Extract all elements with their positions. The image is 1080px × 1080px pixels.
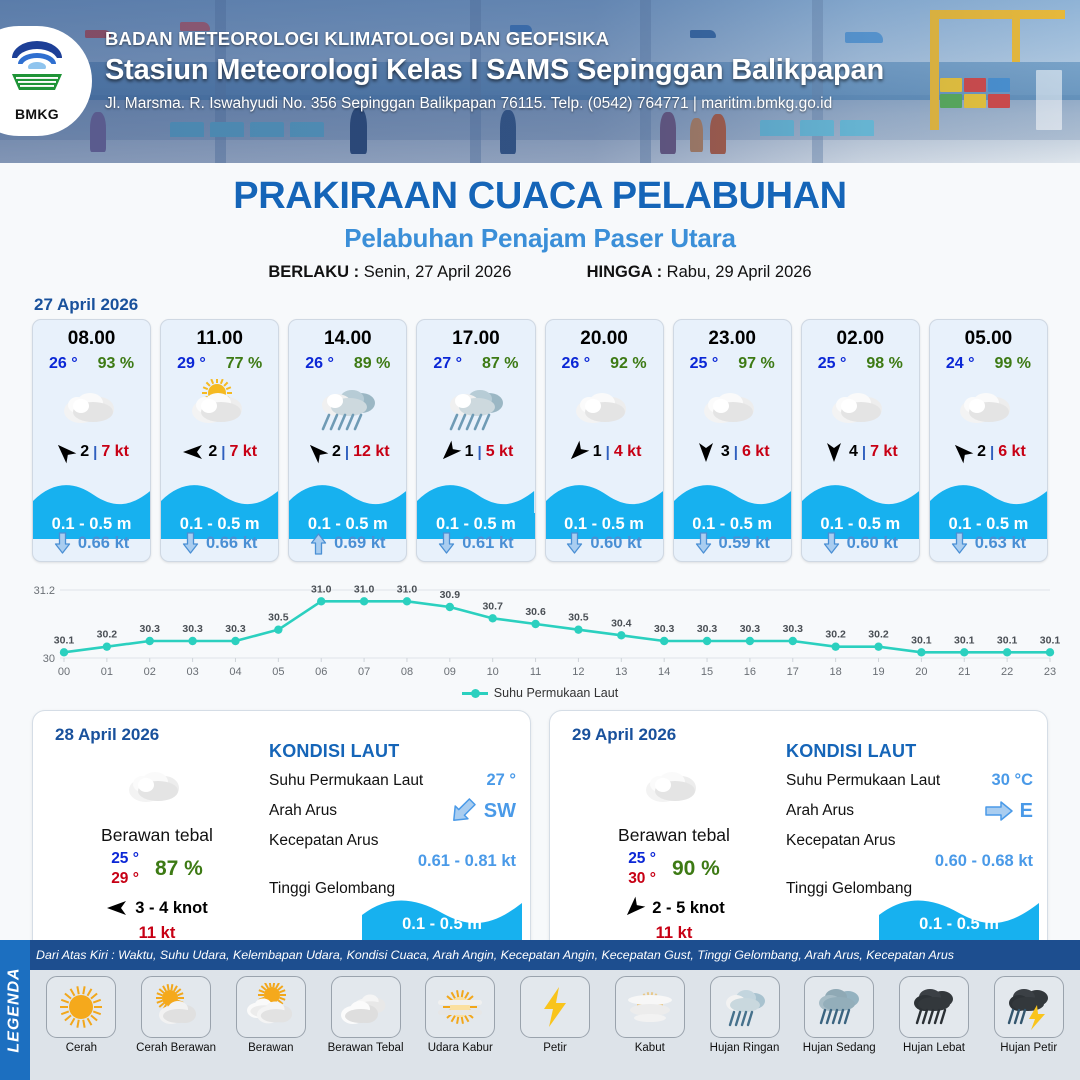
agency-name: BADAN METEOROLOGI KLIMATOLOGI DAN GEOFIS…	[105, 28, 1065, 50]
svg-text:21: 21	[958, 666, 970, 678]
legend-item-label: Kabut	[602, 1042, 697, 1054]
wind-direction-icon	[50, 436, 81, 467]
thunderstorm-icon	[994, 976, 1064, 1038]
card-temperature: 27 °	[433, 355, 462, 373]
hourly-card: 17.00 27 ° 87 % 1 | 5 kt 0.1 - 0.5 m	[416, 319, 535, 562]
daily-temp-min: 25 °	[111, 850, 139, 868]
card-separator: |	[345, 444, 349, 461]
berlaku-label: BERLAKU :	[268, 263, 359, 281]
validity-row: BERLAKU : Senin, 27 April 2026 HINGGA : …	[0, 263, 1080, 282]
card-current-speed: 0.63 kt	[975, 534, 1026, 553]
card-separator: |	[606, 444, 610, 461]
legend-item: Berawan	[223, 976, 318, 1054]
card-current: 0.59 kt	[674, 532, 791, 555]
hourly-card: 23.00 25 ° 97 % 3 | 6 kt 0.1 - 0.5 m	[673, 319, 792, 562]
fog-icon	[615, 976, 685, 1038]
card-temperature: 26 °	[305, 355, 334, 373]
card-current-speed: 0.59 kt	[719, 534, 770, 553]
cloud-sun-icon	[236, 976, 306, 1038]
card-values: 27 ° 87 %	[417, 355, 534, 373]
daily-wind: 3 - 4 knot	[47, 897, 267, 919]
hourly-card: 14.00 26 ° 89 % 2 | 12 kt 0.1 - 0.5 m	[288, 319, 407, 562]
card-wind: 2 | 7 kt	[33, 441, 150, 463]
legend-item-label: Hujan Sedang	[792, 1042, 887, 1054]
card-current: 0.60 kt	[546, 532, 663, 555]
current-speed-value: 0.61 - 0.81 kt	[269, 852, 516, 871]
card-current: 0.63 kt	[930, 532, 1047, 555]
current-speed-row: Kecepatan Arus	[786, 832, 1033, 850]
svg-text:08: 08	[401, 666, 413, 678]
svg-text:13: 13	[615, 666, 627, 678]
current-direction-row: Arah Arus E	[786, 799, 1033, 823]
card-wave-zone: 0.1 - 0.5 m 0.66 kt	[33, 479, 150, 561]
station-name: Stasiun Meteorologi Kelas I SAMS Sepingg…	[105, 54, 1065, 87]
hourly-date-label: 27 April 2026	[34, 295, 1080, 315]
legend-item-label: Petir	[508, 1042, 603, 1054]
card-values: 29 ° 77 %	[161, 355, 278, 373]
moderate-rain-icon	[804, 976, 874, 1038]
card-gust: 12 kt	[353, 443, 389, 461]
svg-text:30.1: 30.1	[54, 634, 75, 646]
current-direction-icon	[695, 532, 712, 555]
sea-conditions-title: KONDISI LAUT	[786, 741, 1033, 762]
svg-text:30.2: 30.2	[97, 629, 118, 641]
card-time: 23.00	[674, 328, 791, 350]
lightning-icon	[520, 976, 590, 1038]
card-weather-icon	[674, 377, 791, 433]
card-wind: 2 | 6 kt	[930, 441, 1047, 463]
sst-row: Suhu Permukaan Laut 27 °	[269, 771, 516, 790]
card-humidity: 92 %	[610, 355, 646, 373]
sst-label: Suhu Permukaan Laut	[269, 772, 423, 790]
svg-text:31.0: 31.0	[397, 583, 418, 595]
hourly-card: 20.00 26 ° 92 % 1 | 4 kt 0.1 - 0.5 m	[545, 319, 664, 562]
card-weather-icon	[161, 377, 278, 433]
svg-text:00: 00	[58, 666, 70, 678]
card-time: 17.00	[417, 328, 534, 350]
daily-date: 28 April 2026	[55, 725, 159, 745]
card-wind-speed: 2	[332, 443, 341, 461]
header-text-block: BADAN METEOROLOGI KLIMATOLOGI DAN GEOFIS…	[105, 28, 1065, 113]
card-temperature: 26 °	[49, 355, 78, 373]
card-wind: 3 | 6 kt	[674, 441, 791, 463]
legend-item: Petir	[508, 976, 603, 1054]
wind-direction-icon	[434, 436, 465, 467]
card-wave-zone: 0.1 - 0.5 m 0.60 kt	[546, 479, 663, 561]
svg-text:30.3: 30.3	[783, 623, 804, 635]
svg-text:31.0: 31.0	[311, 583, 332, 595]
current-direction-icon	[566, 532, 583, 555]
daily-sea-conditions: KONDISI LAUT Suhu Permukaan Laut 30 °C A…	[786, 741, 1033, 898]
card-wave-zone: 0.1 - 0.5 m 0.59 kt	[674, 479, 791, 561]
current-direction-value: E	[1020, 800, 1033, 823]
sea-conditions-title: KONDISI LAUT	[269, 741, 516, 762]
card-current-speed: 0.60 kt	[590, 534, 641, 553]
chart-legend: Suhu Permukaan Laut	[0, 686, 1080, 700]
card-current: 0.66 kt	[33, 532, 150, 555]
legend-item-label: Cerah Berawan	[129, 1042, 224, 1054]
svg-text:17: 17	[787, 666, 799, 678]
wind-direction-icon	[562, 436, 593, 467]
sst-chart: 31.23030.10030.20130.30230.30330.30430.5…	[20, 576, 1060, 684]
svg-text:30.5: 30.5	[568, 612, 589, 624]
legend-item: Kabut	[602, 976, 697, 1054]
svg-text:30.3: 30.3	[140, 623, 161, 635]
current-direction-icon	[438, 532, 455, 555]
current-direction-icon	[951, 532, 968, 555]
svg-text:09: 09	[444, 666, 456, 678]
svg-text:30.1: 30.1	[997, 634, 1018, 646]
card-weather-icon	[930, 377, 1047, 433]
legend-item-label: Udara Kabur	[413, 1042, 508, 1054]
svg-text:23: 23	[1044, 666, 1056, 678]
svg-text:14: 14	[658, 666, 670, 678]
svg-text:31.0: 31.0	[354, 583, 375, 595]
card-wind-speed: 2	[977, 443, 986, 461]
svg-text:30.4: 30.4	[611, 617, 632, 629]
card-wave-zone: 0.1 - 0.5 m 0.69 kt	[289, 479, 406, 561]
card-gust: 7 kt	[870, 443, 898, 461]
legend-item: Hujan Petir	[981, 976, 1076, 1054]
legend-item: Cerah Berawan	[129, 976, 224, 1054]
card-current: 0.61 kt	[417, 532, 534, 555]
legend-item: Hujan Lebat	[887, 976, 982, 1054]
svg-text:16: 16	[744, 666, 756, 678]
legend-item-label: Berawan	[223, 1042, 318, 1054]
card-current-speed: 0.69 kt	[334, 534, 385, 553]
title-section: PRAKIRAAN CUACA PELABUHAN Pelabuhan Pena…	[0, 163, 1080, 282]
hourly-card: 02.00 25 ° 98 % 4 | 7 kt 0.1 - 0.5 m	[801, 319, 920, 562]
card-current: 0.69 kt	[289, 532, 406, 555]
card-time: 14.00	[289, 328, 406, 350]
daily-temp-min: 25 °	[628, 850, 656, 868]
svg-text:15: 15	[701, 666, 713, 678]
card-current: 0.60 kt	[802, 532, 919, 555]
wind-direction-icon	[695, 441, 717, 463]
daily-wind-speed: 3 - 4 knot	[135, 899, 207, 918]
hourly-card: 05.00 24 ° 99 % 2 | 6 kt 0.1 - 0.5 m	[929, 319, 1048, 562]
card-humidity: 77 %	[226, 355, 262, 373]
card-temperature: 29 °	[177, 355, 206, 373]
card-gust: 5 kt	[486, 443, 514, 461]
hourly-card: 11.00 29 ° 77 % 2 | 7 kt 0.1 - 0.5 m	[160, 319, 279, 562]
bmkg-emblem-icon	[6, 40, 68, 100]
legend-item: Hujan Sedang	[792, 976, 887, 1054]
card-humidity: 98 %	[866, 355, 902, 373]
daily-wind-speed: 2 - 5 knot	[652, 899, 724, 918]
card-weather-icon	[802, 377, 919, 433]
svg-text:30.6: 30.6	[525, 606, 546, 618]
hourly-card: 08.00 26 ° 93 % 2 | 7 kt 0.1 - 0.5 m	[32, 319, 151, 562]
svg-text:05: 05	[272, 666, 284, 678]
sst-value: 27 °	[486, 771, 516, 790]
card-separator: |	[990, 444, 994, 461]
svg-text:30.1: 30.1	[911, 634, 932, 646]
svg-text:20: 20	[915, 666, 927, 678]
daily-temps: 25 ° 30 ° 90 %	[564, 850, 784, 888]
light-rain-icon	[710, 976, 780, 1038]
svg-text:18: 18	[830, 666, 842, 678]
legend-items: Cerah Cerah Berawan Berawan	[30, 970, 1080, 1080]
arrow-e	[984, 799, 1014, 823]
current-speed-label: Kecepatan Arus	[786, 832, 895, 850]
card-current-speed: 0.61 kt	[462, 534, 513, 553]
svg-text:30.5: 30.5	[268, 612, 289, 624]
heavy-rain-icon	[899, 976, 969, 1038]
card-separator: |	[478, 444, 482, 461]
daily-wind: 2 - 5 knot	[564, 897, 784, 919]
svg-text:10: 10	[487, 666, 499, 678]
arrow-sw	[444, 792, 482, 830]
current-speed-row: Kecepatan Arus	[269, 832, 516, 850]
card-values: 26 ° 92 %	[546, 355, 663, 373]
haze-icon	[425, 976, 495, 1038]
card-time: 02.00	[802, 328, 919, 350]
card-current-speed: 0.66 kt	[78, 534, 129, 553]
card-humidity: 99 %	[995, 355, 1031, 373]
legend-item: Cerah	[34, 976, 129, 1054]
card-wind: 1 | 4 kt	[546, 441, 663, 463]
daily-wave-graphic: 0.1 - 0.5 m	[879, 889, 1039, 945]
sun-icon	[46, 976, 116, 1038]
sst-label: Suhu Permukaan Laut	[786, 772, 940, 790]
clouds-icon	[331, 976, 401, 1038]
station-address: Jl. Marsma. R. Iswahyudi No. 356 Sepingg…	[105, 95, 1065, 113]
svg-text:31.2: 31.2	[34, 585, 55, 597]
legend-side-tab: LEGENDA	[0, 940, 30, 1080]
card-gust: 6 kt	[998, 443, 1026, 461]
daily-humidity: 90 %	[672, 857, 720, 881]
card-time: 20.00	[546, 328, 663, 350]
chart-legend-label: Suhu Permukaan Laut	[494, 686, 618, 700]
card-wave-zone: 0.1 - 0.5 m 0.66 kt	[161, 479, 278, 561]
svg-text:30.3: 30.3	[654, 623, 675, 635]
wind-direction-icon	[301, 436, 332, 467]
bmkg-logo-text: BMKG	[2, 106, 72, 122]
daily-wave-graphic: 0.1 - 0.5 m	[362, 889, 522, 945]
card-current-speed: 0.60 kt	[847, 534, 898, 553]
current-direction-row: Arah Arus SW	[269, 799, 516, 823]
current-direction-icon	[54, 532, 71, 555]
current-direction-label: Arah Arus	[786, 802, 854, 820]
current-speed-value: 0.60 - 0.68 kt	[786, 852, 1033, 871]
sun-cloud-icon	[141, 976, 211, 1038]
current-direction-icon	[823, 532, 840, 555]
svg-text:04: 04	[229, 666, 241, 678]
legend-item-label: Hujan Ringan	[697, 1042, 792, 1054]
card-values: 25 ° 98 %	[802, 355, 919, 373]
svg-text:03: 03	[186, 666, 198, 678]
current-direction-label: Arah Arus	[269, 802, 337, 820]
svg-text:12: 12	[572, 666, 584, 678]
svg-text:30.2: 30.2	[868, 629, 889, 641]
card-humidity: 89 %	[354, 355, 390, 373]
card-time: 11.00	[161, 328, 278, 350]
daily-date: 29 April 2026	[572, 725, 676, 745]
wind-direction-icon	[106, 897, 128, 919]
legend-item: Hujan Ringan	[697, 976, 792, 1054]
card-wind-speed: 2	[80, 443, 89, 461]
svg-text:30.3: 30.3	[697, 623, 718, 635]
page-title: PRAKIRAAN CUACA PELABUHAN	[0, 175, 1080, 218]
svg-text:30.9: 30.9	[440, 589, 461, 601]
card-gust: 7 kt	[101, 443, 129, 461]
card-temperature: 26 °	[562, 355, 591, 373]
daily-condition: Berawan tebal	[564, 825, 784, 846]
legend-item: Berawan Tebal	[318, 976, 413, 1054]
daily-wave-value: 0.1 - 0.5 m	[879, 915, 1039, 934]
daily-temps: 25 ° 29 ° 87 %	[47, 850, 267, 888]
svg-text:30.3: 30.3	[740, 623, 761, 635]
legend-strip: LEGENDA Dari Atas Kiri : Waktu, Suhu Uda…	[0, 940, 1080, 1080]
card-current: 0.66 kt	[161, 532, 278, 555]
daily-summary: Berawan tebal 25 ° 30 ° 90 % 2 - 5 knot …	[564, 755, 784, 943]
svg-text:06: 06	[315, 666, 327, 678]
card-separator: |	[93, 444, 97, 461]
svg-text:30.7: 30.7	[482, 600, 503, 612]
daily-forecast-panel: 28 April 2026 Berawan tebal 25 ° 29 ° 87…	[32, 710, 531, 956]
card-wind-speed: 3	[721, 443, 730, 461]
daily-summary: Berawan tebal 25 ° 29 ° 87 % 3 - 4 knot …	[47, 755, 267, 943]
card-current-speed: 0.66 kt	[206, 534, 257, 553]
svg-text:30.1: 30.1	[954, 634, 975, 646]
hourly-forecast-cards: 08.00 26 ° 93 % 2 | 7 kt 0.1 - 0.5 m	[0, 319, 1080, 562]
card-gust: 4 kt	[614, 443, 642, 461]
wind-direction-icon	[182, 441, 204, 463]
card-temperature: 24 °	[946, 355, 975, 373]
daily-wave-value: 0.1 - 0.5 m	[362, 915, 522, 934]
card-wave-zone: 0.1 - 0.5 m 0.63 kt	[930, 479, 1047, 561]
card-time: 08.00	[33, 328, 150, 350]
legend-note: Dari Atas Kiri : Waktu, Suhu Udara, Kele…	[36, 948, 1074, 962]
card-weather-icon	[417, 377, 534, 433]
svg-text:02: 02	[144, 666, 156, 678]
page-subtitle: Pelabuhan Penajam Paser Utara	[0, 223, 1080, 254]
legend-item-label: Hujan Petir	[981, 1042, 1076, 1054]
svg-text:30.1: 30.1	[1040, 634, 1060, 646]
daily-sea-conditions: KONDISI LAUT Suhu Permukaan Laut 27 ° Ar…	[269, 741, 516, 898]
card-weather-icon	[546, 377, 663, 433]
daily-temp-max: 30 °	[628, 870, 656, 888]
card-humidity: 97 %	[738, 355, 774, 373]
card-wave-zone: 0.1 - 0.5 m 0.60 kt	[802, 479, 919, 561]
card-wind: 4 | 7 kt	[802, 441, 919, 463]
card-wind-speed: 4	[849, 443, 858, 461]
card-separator: |	[221, 444, 225, 461]
card-weather-icon	[33, 377, 150, 433]
hingga-value: Rabu, 29 April 2026	[667, 263, 812, 281]
svg-text:30.2: 30.2	[825, 629, 846, 641]
card-values: 26 ° 93 %	[33, 355, 150, 373]
svg-text:07: 07	[358, 666, 370, 678]
chart-legend-marker-icon	[462, 692, 488, 695]
svg-text:01: 01	[101, 666, 113, 678]
svg-text:30: 30	[43, 653, 55, 665]
daily-weather-icon	[564, 755, 784, 813]
daily-temp-max: 29 °	[111, 870, 139, 888]
daily-forecast-row: 28 April 2026 Berawan tebal 25 ° 29 ° 87…	[0, 700, 1080, 956]
berlaku-value: Senin, 27 April 2026	[364, 263, 512, 281]
card-wind-speed: 2	[208, 443, 217, 461]
card-wind: 2 | 7 kt	[161, 441, 278, 463]
legend-item-label: Hujan Lebat	[887, 1042, 982, 1054]
card-humidity: 87 %	[482, 355, 518, 373]
card-gust: 6 kt	[742, 443, 770, 461]
daily-weather-icon	[47, 755, 267, 813]
card-values: 24 ° 99 %	[930, 355, 1047, 373]
svg-text:30.3: 30.3	[182, 623, 203, 635]
svg-text:30.3: 30.3	[225, 623, 246, 635]
card-separator: |	[862, 444, 866, 461]
legend-item-label: Berawan Tebal	[318, 1042, 413, 1054]
card-time: 05.00	[930, 328, 1047, 350]
wind-direction-icon	[823, 441, 845, 463]
card-temperature: 25 °	[690, 355, 719, 373]
wind-direction-icon	[619, 892, 650, 923]
current-direction-value: SW	[484, 800, 516, 823]
legend-item: Udara Kabur	[413, 976, 508, 1054]
legend-item-label: Cerah	[34, 1042, 129, 1054]
page-header: BMKG BADAN METEOROLOGI KLIMATOLOGI DAN G…	[0, 0, 1080, 163]
svg-text:11: 11	[530, 666, 541, 678]
card-wave-zone: 0.1 - 0.5 m 0.61 kt	[417, 479, 534, 561]
legend-side-title: LEGENDA	[6, 967, 24, 1052]
daily-forecast-panel: 29 April 2026 Berawan tebal 25 ° 30 ° 90…	[549, 710, 1048, 956]
card-gust: 7 kt	[229, 443, 257, 461]
daily-condition: Berawan tebal	[47, 825, 267, 846]
current-direction-icon	[182, 532, 199, 555]
sst-row: Suhu Permukaan Laut 30 °C	[786, 771, 1033, 790]
card-temperature: 25 °	[818, 355, 847, 373]
daily-humidity: 87 %	[155, 857, 203, 881]
card-wind-speed: 1	[465, 443, 474, 461]
current-direction-icon	[310, 532, 327, 555]
svg-text:22: 22	[1001, 666, 1013, 678]
card-weather-icon	[289, 377, 406, 433]
svg-text:19: 19	[872, 666, 884, 678]
card-humidity: 93 %	[98, 355, 134, 373]
card-values: 25 ° 97 %	[674, 355, 791, 373]
card-wind-speed: 1	[593, 443, 602, 461]
sst-value: 30 °C	[992, 771, 1033, 790]
hingga-label: HINGGA :	[587, 263, 662, 281]
card-wind: 1 | 5 kt	[417, 441, 534, 463]
current-speed-label: Kecepatan Arus	[269, 832, 378, 850]
wind-direction-icon	[947, 436, 978, 467]
card-wind: 2 | 12 kt	[289, 441, 406, 463]
card-values: 26 ° 89 %	[289, 355, 406, 373]
sst-chart-svg: 31.23030.10030.20130.30230.30330.30430.5…	[20, 576, 1060, 684]
card-separator: |	[734, 444, 738, 461]
